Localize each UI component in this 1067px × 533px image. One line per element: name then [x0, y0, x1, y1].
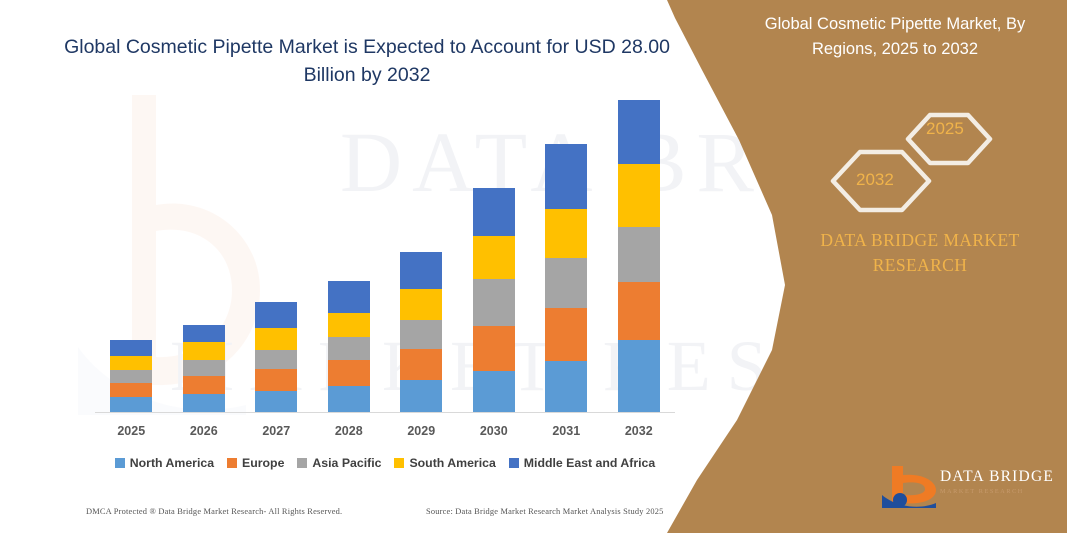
bar-2029 [400, 252, 442, 412]
legend-label: North America [130, 456, 214, 470]
bar-2026 [183, 325, 225, 412]
bar-segment [400, 380, 442, 412]
bar-segment [473, 371, 515, 412]
x-axis-labels: 20252026202720282029203020312032 [95, 424, 675, 438]
brand-name-line2: RESEARCH [760, 255, 1067, 276]
legend-item[interactable]: Asia Pacific [297, 456, 381, 470]
bar-segment [618, 164, 660, 226]
legend-label: South America [409, 456, 495, 470]
bar-segment [110, 383, 152, 398]
bar-segment [255, 302, 297, 328]
bar-segment [545, 144, 587, 208]
bar-segment [400, 320, 442, 348]
x-axis-label-2025: 2025 [110, 424, 152, 438]
bar-segment [400, 289, 442, 321]
bar-segment [545, 308, 587, 361]
hex-label-2025: 2025 [926, 119, 964, 139]
bar-segment [110, 340, 152, 356]
x-axis-label-2027: 2027 [255, 424, 297, 438]
bar-segment [183, 376, 225, 394]
infographic-canvas: DATA BRIDGE MARKET RESEARCH Global Cosme… [0, 0, 1067, 533]
bar-segment [473, 236, 515, 279]
footer-source: Source: Data Bridge Market Research Mark… [426, 507, 664, 516]
x-axis-line [95, 412, 675, 413]
legend-swatch-icon [115, 458, 125, 468]
logo-subtitle: MARKET RESEARCH [940, 488, 1024, 495]
bar-segment [183, 360, 225, 376]
bar-segment [545, 258, 587, 308]
logo-wordmark: DATA BRIDGE [940, 468, 1054, 486]
bar-segment [473, 326, 515, 371]
bar-2028 [328, 281, 370, 412]
legend-item[interactable]: Middle East and Africa [509, 456, 655, 470]
x-axis-label-2026: 2026 [183, 424, 225, 438]
bar-2025 [110, 340, 152, 412]
bar-segment [545, 361, 587, 412]
legend-item[interactable]: South America [394, 456, 495, 470]
bar-segment [183, 342, 225, 360]
bar-2032 [618, 100, 660, 412]
bar-segment [328, 313, 370, 338]
legend-label: Europe [242, 456, 284, 470]
x-axis-label-2029: 2029 [400, 424, 442, 438]
bar-segment [473, 188, 515, 235]
x-axis-label-2031: 2031 [545, 424, 587, 438]
hex-label-2032: 2032 [856, 170, 894, 190]
bar-2030 [473, 188, 515, 412]
bar-segment [618, 227, 660, 282]
bar-segment [618, 282, 660, 340]
legend-swatch-icon [394, 458, 404, 468]
legend-swatch-icon [509, 458, 519, 468]
legend-item[interactable]: North America [115, 456, 214, 470]
bar-segment [328, 281, 370, 313]
legend-label: Asia Pacific [312, 456, 381, 470]
bar-segment [183, 325, 225, 342]
bar-segment [110, 397, 152, 412]
bar-segment [328, 386, 370, 412]
bar-segment [255, 328, 297, 349]
legend-item[interactable]: Europe [227, 456, 284, 470]
chart-legend: North AmericaEuropeAsia PacificSouth Ame… [95, 456, 675, 470]
bar-segment [110, 356, 152, 371]
bar-segment [328, 360, 370, 386]
legend-label: Middle East and Africa [524, 456, 655, 470]
x-axis-label-2032: 2032 [618, 424, 660, 438]
bar-segment [255, 369, 297, 390]
bar-segment [545, 209, 587, 259]
bar-segment [183, 394, 225, 412]
hexagon-group: 2032 2025 [820, 95, 1000, 225]
bar-segment [618, 340, 660, 412]
legend-swatch-icon [297, 458, 307, 468]
page-title: Global Cosmetic Pipette Market is Expect… [62, 33, 672, 89]
panel-title: Global Cosmetic Pipette Market, By Regio… [745, 12, 1045, 62]
bar-2027 [255, 302, 297, 412]
bar-segment [255, 391, 297, 412]
x-axis-label-2030: 2030 [473, 424, 515, 438]
bar-segment [328, 337, 370, 360]
bar-segment [400, 349, 442, 381]
footer-copyright: DMCA Protected ® Data Bridge Market Rese… [86, 507, 342, 516]
bar-segment [110, 370, 152, 382]
brand-name-line1: DATA BRIDGE MARKET [760, 230, 1067, 251]
x-axis-label-2028: 2028 [328, 424, 370, 438]
bar-segment [473, 279, 515, 326]
stacked-bar-chart [95, 100, 675, 412]
bar-segment [618, 100, 660, 164]
hexagons-icon [820, 95, 1000, 225]
bar-2031 [545, 144, 587, 412]
bar-segment [255, 350, 297, 369]
bar-segment [400, 252, 442, 289]
legend-swatch-icon [227, 458, 237, 468]
